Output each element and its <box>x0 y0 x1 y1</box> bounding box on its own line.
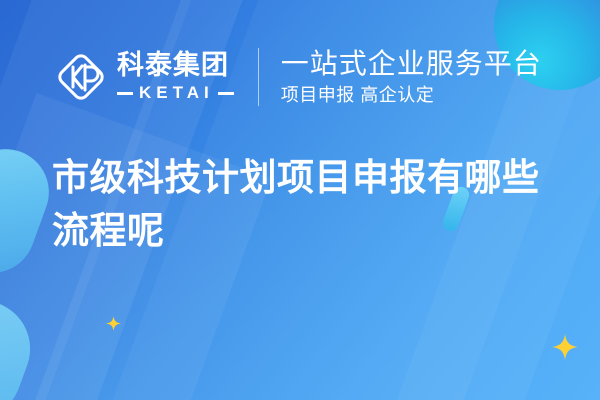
promo-banner: 科泰集团 KETAI 一站式企业服务平台 项目申报 高企认定 市级科技计划项目申… <box>0 0 600 400</box>
sparkle-star-icon <box>106 316 121 331</box>
tagline-sub: 项目申报 高企认定 <box>281 85 542 107</box>
capsule-decoration-left-lower <box>0 287 44 400</box>
brand-name-cn: 科泰集团 <box>117 51 234 79</box>
vertical-divider <box>258 48 259 106</box>
dash-left-icon <box>117 92 133 95</box>
tagline-block: 一站式企业服务平台 项目申报 高企认定 <box>281 48 542 107</box>
brand-name-en: KETAI <box>139 83 214 103</box>
logo-wordmark: 科泰集团 KETAI <box>117 51 234 103</box>
tagline-main: 一站式企业服务平台 <box>281 48 542 80</box>
banner-header: 科泰集团 KETAI 一站式企业服务平台 项目申报 高企认定 <box>55 42 542 112</box>
sparkle-star-icon <box>552 334 578 360</box>
kp-monogram-icon <box>55 51 107 103</box>
dash-right-icon <box>218 92 234 95</box>
page-title: 市级科技计划项目申报有哪些流程呢 <box>52 152 562 257</box>
brand-name-en-row: KETAI <box>117 83 234 103</box>
